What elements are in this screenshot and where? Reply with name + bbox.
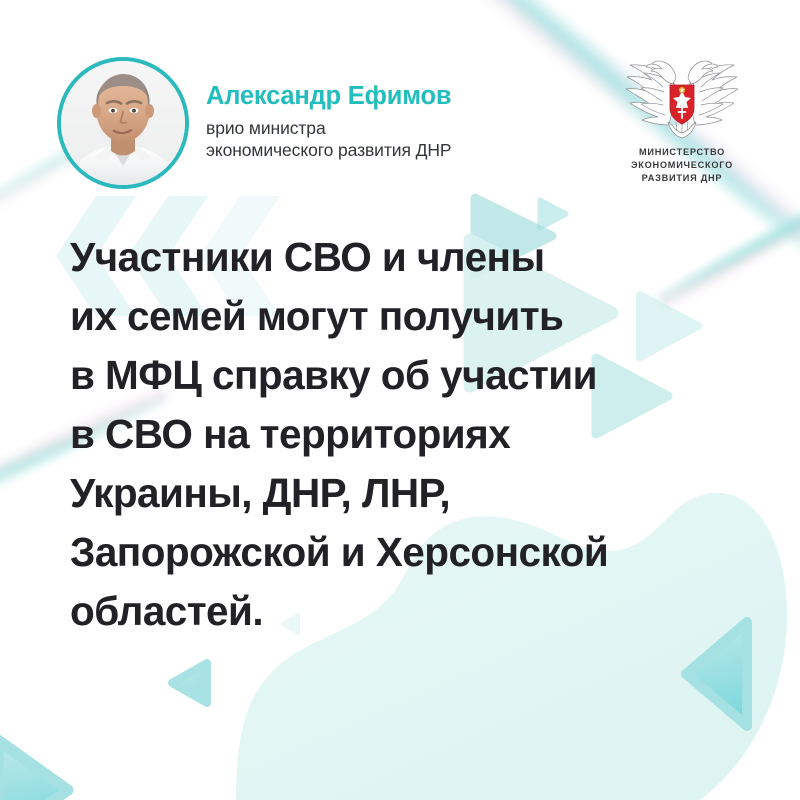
headline-line-1: Участники СВО и члены: [70, 228, 750, 287]
ministry-logo: МИНИСТЕРСТВО ЭКОНОМИЧЕСКОГО РАЗВИТИЯ ДНР: [602, 52, 762, 185]
headline-line-5: Украины, ДНР, ЛНР,: [70, 464, 750, 523]
speaker-role-line-2: экономического развития ДНР: [206, 139, 606, 161]
avatar: [57, 57, 189, 189]
ministry-label: МИНИСТЕРСТВО ЭКОНОМИЧЕСКОГО РАЗВИТИЯ ДНР: [602, 146, 762, 185]
ministry-label-line-1: МИНИСТЕРСТВО: [602, 146, 762, 159]
headline-line-2: их семей могут получить: [70, 287, 750, 346]
ministry-label-line-3: РАЗВИТИЯ ДНР: [602, 172, 762, 185]
quote-card: Александр Ефимов врио министра экономиче…: [0, 0, 800, 800]
ministry-label-line-2: ЭКОНОМИЧЕСКОГО: [602, 159, 762, 172]
headline-line-6: Запорожской и Херсонской: [70, 523, 750, 582]
speaker-role: врио министра экономического развития ДН…: [206, 117, 606, 161]
triangle-left-small-bottom: [172, 663, 207, 703]
headline-line-3: в МФЦ справку об участии: [70, 346, 750, 405]
headline-line-4: в СВО на территориях: [70, 405, 750, 464]
headline-line-7: областей.: [70, 582, 750, 641]
speaker-role-line-1: врио министра: [206, 117, 606, 139]
triangle-right-bottom-left-corner: [0, 740, 68, 800]
portrait-photo-icon: [61, 61, 185, 185]
speaker-name: Александр Ефимов: [206, 82, 606, 111]
headline-text: Участники СВО и члены их семей могут пол…: [70, 228, 750, 641]
dnr-double-headed-eagle-emblem-icon: [602, 52, 762, 144]
card-header: Александр Ефимов врио министра экономиче…: [0, 0, 800, 205]
speaker-identity: Александр Ефимов врио министра экономиче…: [206, 82, 606, 161]
